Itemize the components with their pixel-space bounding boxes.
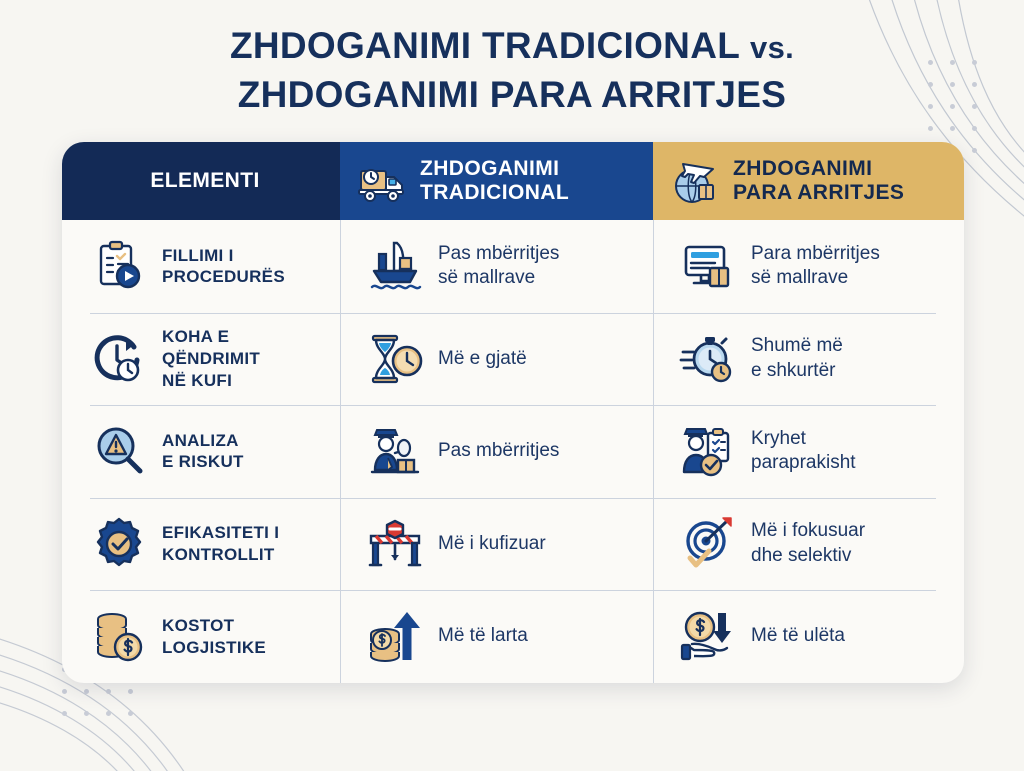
table-row: EFIKASITETI I KONTROLLIT — [62, 498, 964, 591]
page-title-vs: vs. — [750, 30, 794, 65]
row-prearrival-cell: Kryhet paraprakisht — [653, 405, 964, 498]
stopwatch-fast-icon — [679, 330, 737, 388]
row-element-label: KOHA E QËNDRIMIT NË KUFI — [162, 326, 260, 391]
table-header-tradicional-label: ZHDOGANIMI TRADICIONAL — [420, 157, 569, 204]
row-traditional-cell: Më e gjatë — [340, 313, 653, 406]
officer-inspect-icon — [366, 422, 424, 480]
gear-check-icon — [90, 515, 148, 573]
row-prearrival-cell: Më të ulëta — [653, 590, 964, 683]
monitor-package-icon — [679, 237, 737, 295]
page-title-line-1: ZHDOGANIMI TRADICIONAL vs. — [0, 22, 1024, 71]
comparison-table-card: ELEMENTI ZHDOGANIMI TRADICIONAL — [62, 142, 964, 683]
page-title: ZHDOGANIMI TRADICIONAL vs. ZHDOGANIMI PA… — [0, 22, 1024, 120]
row-element-cell: KOSTOT LOGJISTIKE — [62, 590, 340, 683]
table-header-row: ELEMENTI ZHDOGANIMI TRADICIONAL — [62, 142, 964, 220]
table-body: FILLIMI I PROCEDURËS Pas mbërritjes së m… — [62, 220, 964, 683]
clipboard-play-icon — [90, 237, 148, 295]
table-row: KOSTOT LOGJISTIKE — [62, 590, 964, 683]
hourglass-clock-icon — [366, 330, 424, 388]
table-header-tradicional: ZHDOGANIMI TRADICIONAL — [340, 142, 653, 220]
table-header-para-arritjes-label: ZHDOGANIMI PARA ARRITJES — [733, 157, 904, 204]
table-header-para-arritjes: ZHDOGANIMI PARA ARRITJES — [653, 142, 964, 220]
officer-checklist-icon — [679, 422, 737, 480]
row-prearrival-value: Më të ulëta — [751, 624, 845, 649]
row-traditional-cell: Pas mbërritjes së mallrave — [340, 220, 653, 313]
row-element-label: KOSTOT LOGJISTIKE — [162, 615, 266, 659]
table-row: ANALIZA E RISKUT — [62, 405, 964, 498]
page-title-line-1-text: ZHDOGANIMI TRADICIONAL — [230, 25, 750, 66]
row-element-label: FILLIMI I PROCEDURËS — [162, 245, 285, 289]
table-row: KOHA E QËNDRIMIT NË KUFI Më e gjat — [62, 313, 964, 406]
magnifier-warning-icon — [90, 422, 148, 480]
row-traditional-value: Më i kufizuar — [438, 532, 546, 557]
row-traditional-cell: Pas mbërritjes — [340, 405, 653, 498]
row-prearrival-value: Para mbërritjes së mallrave — [751, 242, 880, 291]
coins-up-arrow-icon — [366, 608, 424, 666]
row-traditional-value: Pas mbërritjes — [438, 439, 559, 464]
row-element-cell: FILLIMI I PROCEDURËS — [62, 220, 340, 313]
table-header-elementi: ELEMENTI — [62, 142, 340, 220]
hand-coin-down-icon — [679, 608, 737, 666]
row-element-label: EFIKASITETI I KONTROLLIT — [162, 522, 279, 566]
row-traditional-cell: Më të larta — [340, 590, 653, 683]
row-traditional-value: Më të larta — [438, 624, 528, 649]
road-barrier-stop-icon — [366, 515, 424, 573]
table-row: FILLIMI I PROCEDURËS Pas mbërritjes së m… — [62, 220, 964, 313]
airplane-globe-icon — [669, 155, 721, 207]
row-prearrival-value: Kryhet paraprakisht — [751, 427, 856, 476]
coin-stack-icon — [90, 608, 148, 666]
row-prearrival-cell: Shumë më e shkurtër — [653, 313, 964, 406]
row-prearrival-value: Shumë më e shkurtër — [751, 334, 843, 383]
clock-arrow-icon — [90, 330, 148, 388]
row-element-label: ANALIZA E RISKUT — [162, 430, 244, 474]
row-traditional-cell: Më i kufizuar — [340, 498, 653, 591]
row-prearrival-cell: Më i fokusuar dhe selektiv — [653, 498, 964, 591]
row-prearrival-cell: Para mbërritjes së mallrave — [653, 220, 964, 313]
row-traditional-value: Më e gjatë — [438, 347, 527, 372]
target-arrow-icon — [679, 515, 737, 573]
row-element-cell: EFIKASITETI I KONTROLLIT — [62, 498, 340, 591]
row-prearrival-value: Më i fokusuar dhe selektiv — [751, 519, 865, 568]
page-title-line-2: ZHDOGANIMI PARA ARRITJES — [0, 71, 1024, 120]
row-element-cell: KOHA E QËNDRIMIT NË KUFI — [62, 313, 340, 406]
cargo-ship-icon — [366, 237, 424, 295]
delivery-truck-icon — [356, 155, 408, 207]
row-traditional-value: Pas mbërritjes së mallrave — [438, 242, 559, 291]
row-element-cell: ANALIZA E RISKUT — [62, 405, 340, 498]
table-header-elementi-label: ELEMENTI — [150, 169, 259, 193]
